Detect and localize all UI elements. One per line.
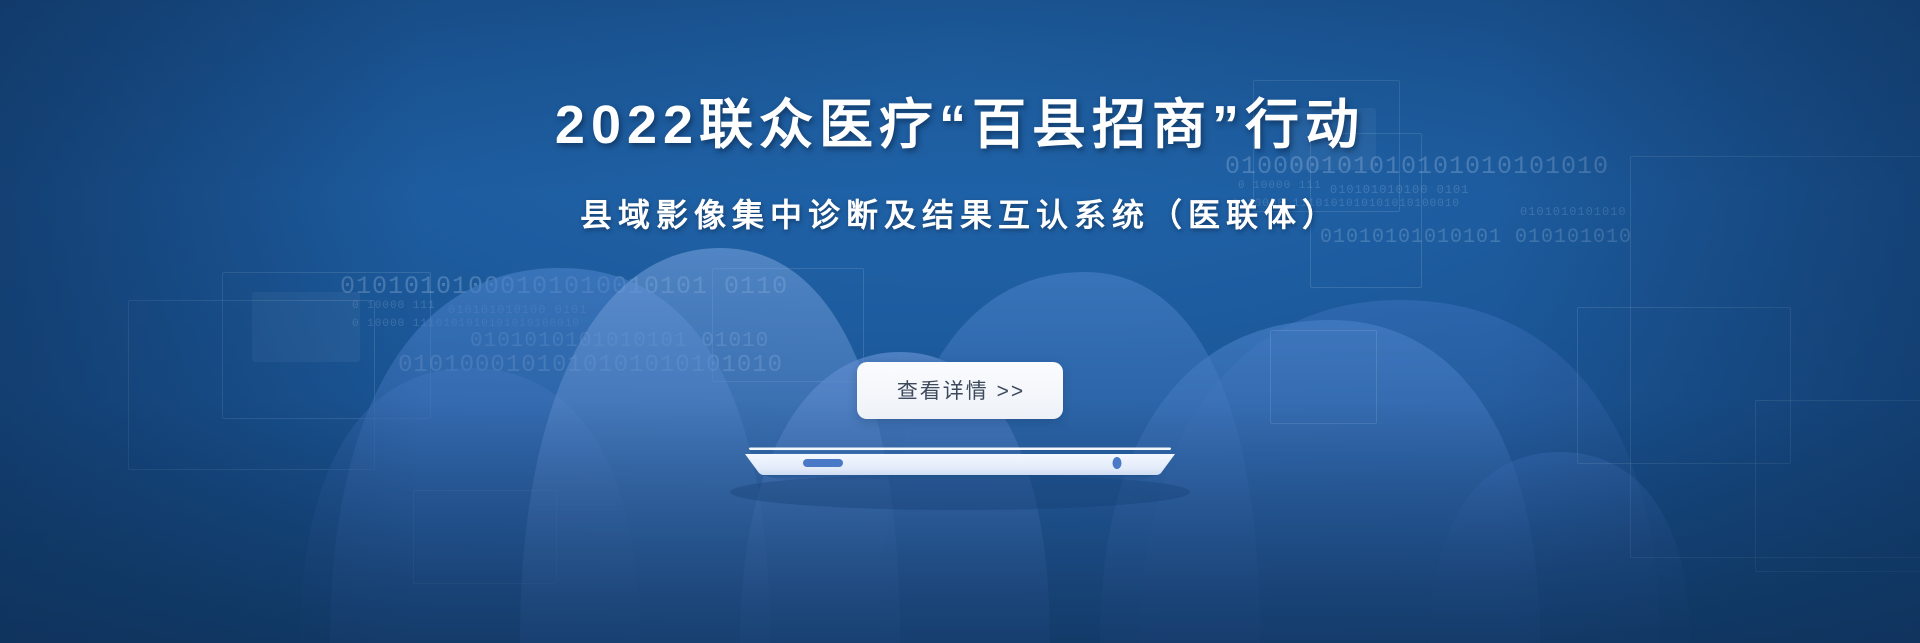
banner-title: 2022联众医疗“百县招商”行动 <box>0 94 1920 158</box>
hero-text-block: 2022联众医疗“百县招商”行动 县域影像集中诊断及结果互认系统（医联体） <box>0 94 1920 234</box>
laptop-base-illustration <box>745 447 1175 481</box>
promo-banner: 01010101000101010010101 0110 0 10000 111… <box>0 0 1920 643</box>
banner-subtitle: 县域影像集中诊断及结果互认系统（医联体） <box>0 196 1920 234</box>
cta-container: 查看详情 >> <box>0 362 1920 419</box>
view-details-button[interactable]: 查看详情 >> <box>857 362 1063 419</box>
